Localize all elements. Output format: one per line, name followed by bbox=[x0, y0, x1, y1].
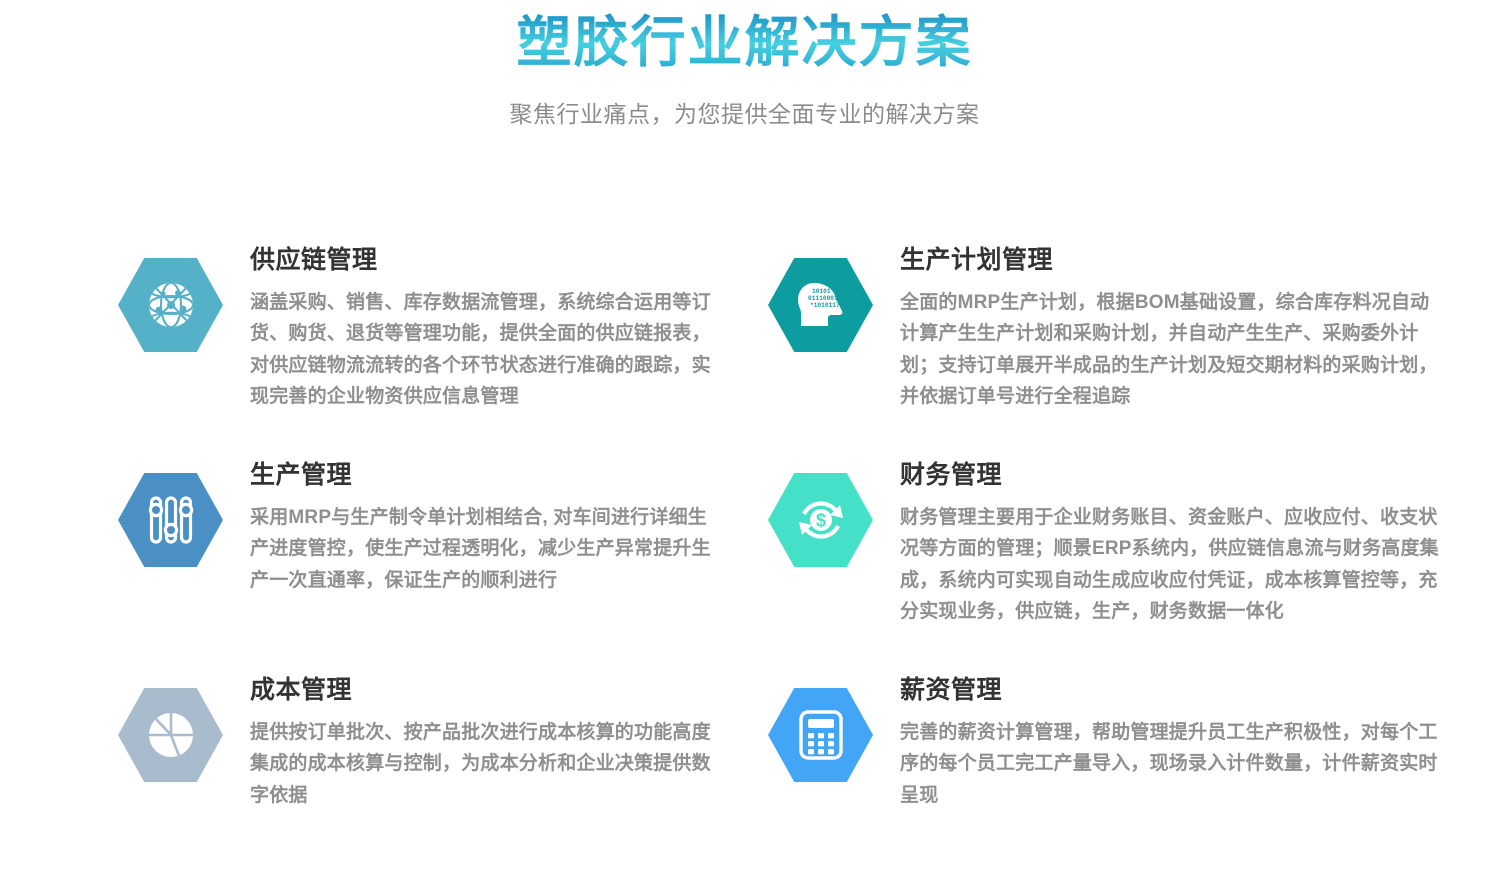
feature-description: 财务管理主要用于企业财务账目、资金账户、应收应付、收支状况等方面的管理；顺景ER… bbox=[900, 502, 1448, 627]
feature-icon-wrap bbox=[118, 688, 223, 782]
svg-text:$: $ bbox=[815, 511, 825, 531]
feature-description: 提供按订单批次、按产品批次进行成本核算的功能高度集成的成本核算与控制，为成本分析… bbox=[250, 717, 715, 811]
feature-card-cost[interactable]: 成本管理 提供按订单批次、按产品批次进行成本核算的功能高度集成的成本核算与控制，… bbox=[118, 675, 768, 890]
feature-icon-wrap bbox=[118, 473, 223, 567]
page-header: 塑胶行业解决方案 聚焦行业痛点，为您提供全面专业的解决方案 bbox=[0, 0, 1489, 129]
feature-card-production[interactable]: 生产管理 采用MRP与生产制令单计划相结合, 对车间进行详细生产进度管控，使生产… bbox=[118, 460, 768, 675]
feature-title: 成本管理 bbox=[250, 675, 768, 705]
hexagon-badge bbox=[118, 473, 223, 567]
feature-grid: 供应链管理 涵盖采购、销售、库存数据流管理，系统综合运用等订货、购货、退货等管理… bbox=[0, 245, 1489, 890]
page-subtitle: 聚焦行业痛点，为您提供全面专业的解决方案 bbox=[0, 95, 1489, 129]
feature-icon-wrap bbox=[118, 258, 223, 352]
globe-network-icon bbox=[145, 279, 197, 331]
feature-icon-wrap bbox=[768, 688, 873, 782]
feature-title: 生产管理 bbox=[250, 460, 768, 490]
feature-body: 供应链管理 涵盖采购、销售、库存数据流管理，系统综合运用等订货、购货、退货等管理… bbox=[250, 245, 768, 412]
feature-icon-wrap: $ bbox=[768, 473, 873, 567]
feature-body: 薪资管理 完善的薪资计算管理，帮助管理提升员工生产积极性，对每个工序的每个员工完… bbox=[900, 675, 1418, 811]
pie-chart-icon bbox=[145, 709, 197, 761]
feature-card-payroll[interactable]: 薪资管理 完善的薪资计算管理，帮助管理提升员工生产积极性，对每个工序的每个员工完… bbox=[768, 675, 1418, 890]
feature-body: 生产管理 采用MRP与生产制令单计划相结合, 对车间进行详细生产进度管控，使生产… bbox=[250, 460, 768, 596]
feature-icon-wrap: 10101 0 011100010 *1010117 bbox=[768, 258, 873, 352]
brain-binary-head-icon: 10101 0 011100010 *1010117 bbox=[795, 280, 847, 330]
feature-body: 成本管理 提供按订单批次、按产品批次进行成本核算的功能高度集成的成本核算与控制，… bbox=[250, 675, 768, 811]
money-refresh-icon: $ bbox=[795, 494, 847, 546]
feature-body: 生产计划管理 全面的MRP生产计划，根据BOM基础设置，综合库存料况自动计算产生… bbox=[900, 245, 1418, 412]
sliders-icon bbox=[147, 495, 195, 545]
feature-card-production-plan[interactable]: 10101 0 011100010 *1010117 生产计划管理 全面的MRP… bbox=[768, 245, 1418, 460]
feature-title: 财务管理 bbox=[900, 460, 1418, 490]
hexagon-badge: 10101 0 011100010 *1010117 bbox=[768, 258, 873, 352]
hexagon-badge: $ bbox=[768, 473, 873, 567]
svg-text:*1010117: *1010117 bbox=[810, 302, 840, 309]
page-title: 塑胶行业解决方案 bbox=[516, 8, 972, 77]
calculator-icon bbox=[798, 709, 844, 761]
feature-card-supply-chain[interactable]: 供应链管理 涵盖采购、销售、库存数据流管理，系统综合运用等订货、购货、退货等管理… bbox=[118, 245, 768, 460]
feature-title: 生产计划管理 bbox=[900, 245, 1418, 275]
feature-body: 财务管理 财务管理主要用于企业财务账目、资金账户、应收应付、收支状况等方面的管理… bbox=[900, 460, 1418, 627]
feature-description: 涵盖采购、销售、库存数据流管理，系统综合运用等订货、购货、退货等管理功能，提供全… bbox=[250, 287, 715, 412]
feature-title: 供应链管理 bbox=[250, 245, 768, 275]
feature-title: 薪资管理 bbox=[900, 675, 1418, 705]
hexagon-badge bbox=[118, 688, 223, 782]
hexagon-badge bbox=[118, 258, 223, 352]
svg-text:10101 0: 10101 0 bbox=[812, 288, 838, 295]
feature-description: 完善的薪资计算管理，帮助管理提升员工生产积极性，对每个工序的每个员工完工产量导入… bbox=[900, 717, 1448, 811]
svg-text:011100010: 011100010 bbox=[808, 295, 842, 302]
solution-page: 塑胶行业解决方案 聚焦行业痛点，为您提供全面专业的解决方案 bbox=[0, 0, 1489, 836]
hexagon-badge bbox=[768, 688, 873, 782]
feature-card-finance[interactable]: $ 财务管理 财务管理主要用于企业财务账目、资金账户、应收应付、收支状况等方面的… bbox=[768, 460, 1418, 675]
feature-description: 采用MRP与生产制令单计划相结合, 对车间进行详细生产进度管控，使生产过程透明化… bbox=[250, 502, 715, 596]
feature-description: 全面的MRP生产计划，根据BOM基础设置，综合库存料况自动计算产生生产计划和采购… bbox=[900, 287, 1448, 412]
